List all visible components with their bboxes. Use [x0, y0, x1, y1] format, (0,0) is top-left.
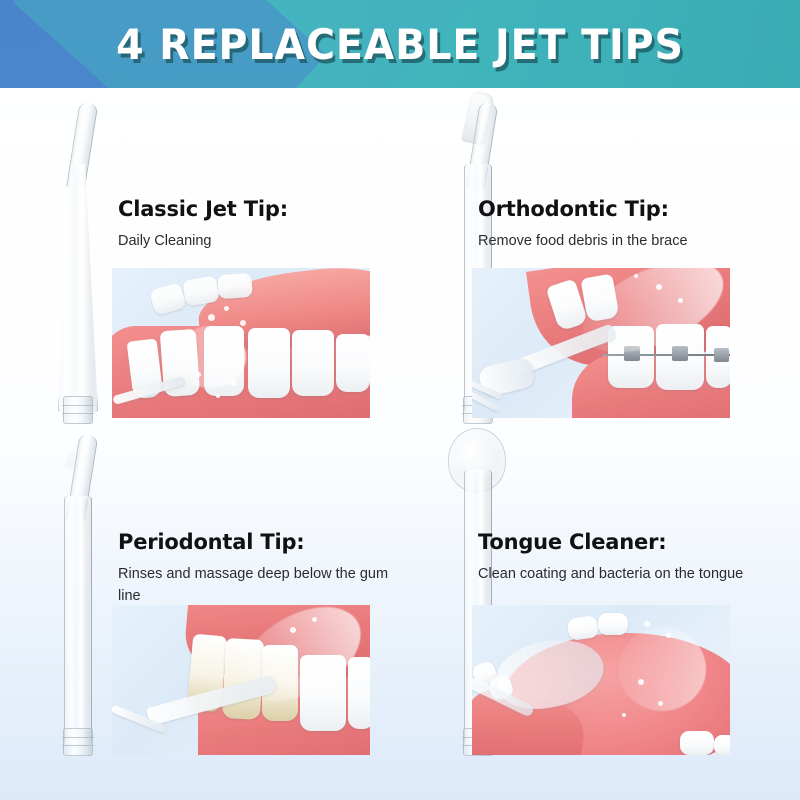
- tip-card-classic-jet: Classic Jet Tip: Daily Cleaning: [0, 92, 400, 448]
- tip-card-orthodontic: Orthodontic Tip: Remove food debris in t…: [400, 92, 800, 448]
- classic-jet-nozzle: [36, 102, 116, 422]
- nozzle-base-collar: [63, 728, 93, 756]
- tongue-cleaning-photo: [472, 605, 730, 755]
- periodontal-nozzle: [36, 434, 116, 754]
- gum-line-spray-photo: [112, 605, 370, 755]
- page-title: 4 REPLACEABLE JET TIPS: [24, 0, 776, 88]
- tip-card-tongue-cleaner: Tongue Cleaner: Clean coating and bacter…: [400, 412, 800, 768]
- braces-water-spray-photo: [472, 268, 730, 418]
- nozzle-shaft: [58, 164, 98, 412]
- tip-title: Classic Jet Tip:: [118, 197, 408, 221]
- tip-title: Periodontal Tip:: [118, 530, 408, 554]
- classic-jet-text-block: Classic Jet Tip: Daily Cleaning: [118, 197, 408, 252]
- tip-description: Remove food debris in the brace: [478, 230, 768, 252]
- tip-title: Tongue Cleaner:: [478, 530, 768, 554]
- tip-card-periodontal: Periodontal Tip: Rinses and massage deep…: [0, 412, 400, 768]
- tip-description: Daily Cleaning: [118, 230, 408, 252]
- nozzle-shaft: [64, 496, 92, 744]
- periodontal-text-block: Periodontal Tip: Rinses and massage deep…: [118, 530, 408, 608]
- tip-description: Clean coating and bacteria on the tongue: [478, 563, 768, 585]
- infographic-page: 4 REPLACEABLE JET TIPS Classic Jet Tip: …: [0, 0, 800, 800]
- orthodontic-text-block: Orthodontic Tip: Remove food debris in t…: [478, 197, 768, 252]
- header-banner: 4 REPLACEABLE JET TIPS: [0, 0, 800, 88]
- teeth-water-spray-photo: [112, 268, 370, 418]
- tip-title: Orthodontic Tip:: [478, 197, 768, 221]
- tongue-cleaner-text-block: Tongue Cleaner: Clean coating and bacter…: [478, 530, 768, 585]
- tip-description: Rinses and massage deep below the gum li…: [118, 563, 408, 608]
